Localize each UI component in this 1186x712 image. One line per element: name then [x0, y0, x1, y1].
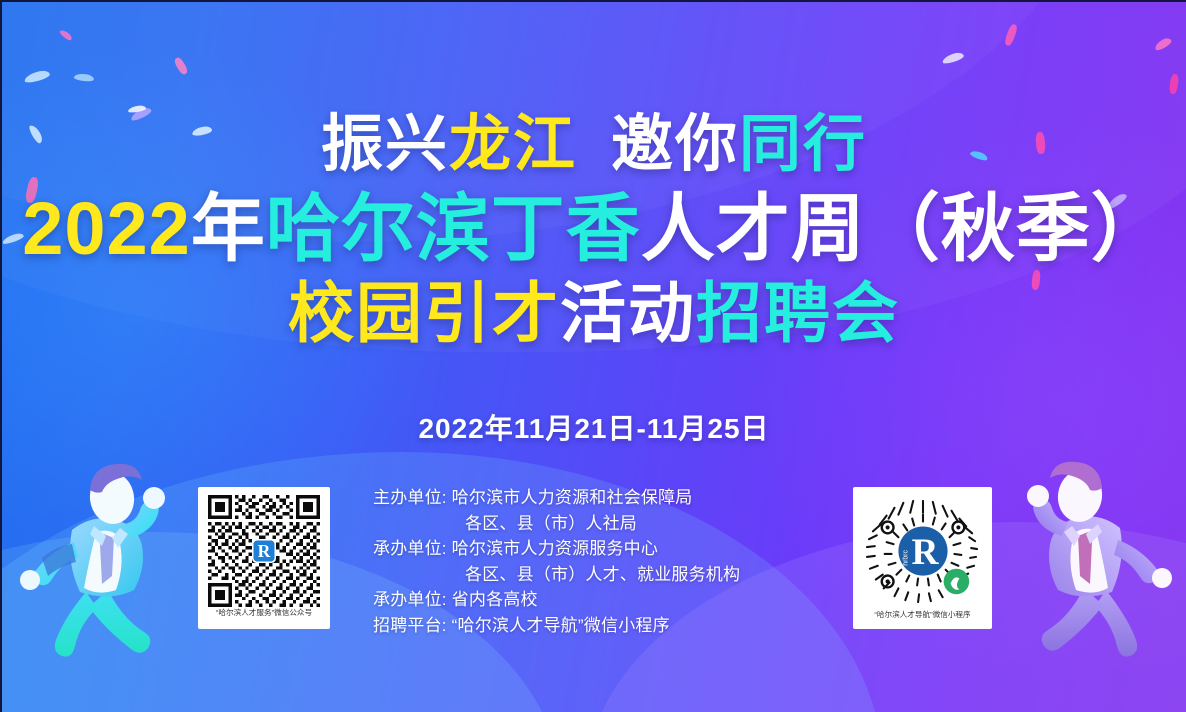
event-date: 2022年11月21日-11月25日 [2, 407, 1186, 447]
confetti-ribbon [128, 105, 147, 113]
headline-line2-part1: 2022 [22, 187, 191, 270]
organizer-line: 主办单位: 哈尔滨市人力资源和社会保障局 [373, 485, 740, 511]
organizer-value: 省内各高校 [452, 590, 538, 609]
qr-card-official-account[interactable]: R “哈尔滨人才服务”微信公众号 [198, 487, 330, 629]
organizer-label: 招聘平台: [373, 616, 447, 635]
qr-code-image-right: R hrbrc [864, 495, 982, 609]
organizer-label: 承办单位: [373, 539, 447, 558]
bottom-info-row: R “哈尔滨人才服务”微信公众号 主办单位: 哈尔滨市人力资源和社会保障局 各区… [2, 485, 1186, 650]
qr-caption-left: “哈尔滨人才服务”微信公众号 [208, 609, 320, 617]
organizer-line: 承办单位: 省内各高校 [373, 587, 740, 613]
headline-line-3: 校园引才活动招聘会 [2, 280, 1186, 346]
headline-line1-part3: 邀你 [611, 110, 739, 179]
confetti-ribbon [1153, 36, 1173, 52]
organizer-value: 哈尔滨市人力资源和社会保障局 [452, 488, 693, 507]
confetti-ribbon [941, 51, 964, 65]
organizer-value: 各区、县（市）人社局 [465, 514, 637, 533]
organizer-label: 主办单位: [373, 488, 447, 507]
headline-line3-part1: 校园引才 [288, 276, 560, 350]
headline-line2-part2: 年 [191, 187, 266, 270]
poster-canvas: 振兴龙江邀你同行 2022年哈尔滨丁香人才周（秋季） 校园引才活动招聘会 202… [0, 0, 1186, 712]
qr-right-logo-letter: R [911, 532, 939, 573]
headline-line3-part2: 活动 [560, 276, 696, 350]
headline-line3-part3: 招聘会 [696, 276, 900, 350]
confetti-ribbon [1169, 74, 1180, 95]
organizer-line: 各区、县（市）人才、就业服务机构 [373, 562, 740, 588]
confetti-ribbon [173, 56, 189, 76]
qr-right-logo-sub: hrbrc [902, 550, 909, 566]
headline-group: 振兴龙江邀你同行 2022年哈尔滨丁香人才周（秋季） 校园引才活动招聘会 [2, 114, 1186, 346]
organizer-value: 各区、县（市）人才、就业服务机构 [465, 565, 740, 584]
organizer-value: 哈尔滨市人力资源服务中心 [452, 539, 658, 558]
confetti-ribbon [23, 69, 50, 84]
organizer-value: “哈尔滨人才导航”微信小程序 [452, 616, 670, 635]
confetti-ribbon [59, 28, 74, 42]
organizer-line: 各区、县（市）人社局 [373, 511, 740, 537]
headline-line2-part4: 人才周（秋季） [641, 187, 1166, 270]
headline-line1-part4: 同行 [739, 110, 867, 179]
confetti-ribbon [74, 73, 95, 83]
headline-line1-part1: 振兴 [321, 110, 449, 179]
headline-line2-part3: 哈尔滨丁香 [266, 187, 641, 270]
organizer-line: 招聘平台: “哈尔滨人才导航”微信小程序 [373, 613, 740, 639]
headline-line-1: 振兴龙江邀你同行 [2, 114, 1186, 176]
headline-line-2: 2022年哈尔滨丁香人才周（秋季） [2, 192, 1186, 266]
qr-code-image-left: R [208, 495, 320, 607]
confetti-ribbon [1003, 23, 1018, 46]
organizer-info-block: 主办单位: 哈尔滨市人力资源和社会保障局 各区、县（市）人社局 承办单位: 哈尔… [373, 485, 740, 638]
qr-card-mini-program[interactable]: R hrbrc “哈尔滨人才导航”微信小程序 [853, 487, 992, 629]
organizer-label: 承办单位: [373, 590, 447, 609]
qr-caption-right: “哈尔滨人才导航”微信小程序 [863, 611, 982, 619]
organizer-line: 承办单位: 哈尔滨市人力资源服务中心 [373, 536, 740, 562]
headline-line1-part2: 龙江 [449, 110, 577, 179]
svg-text:R: R [258, 541, 271, 561]
